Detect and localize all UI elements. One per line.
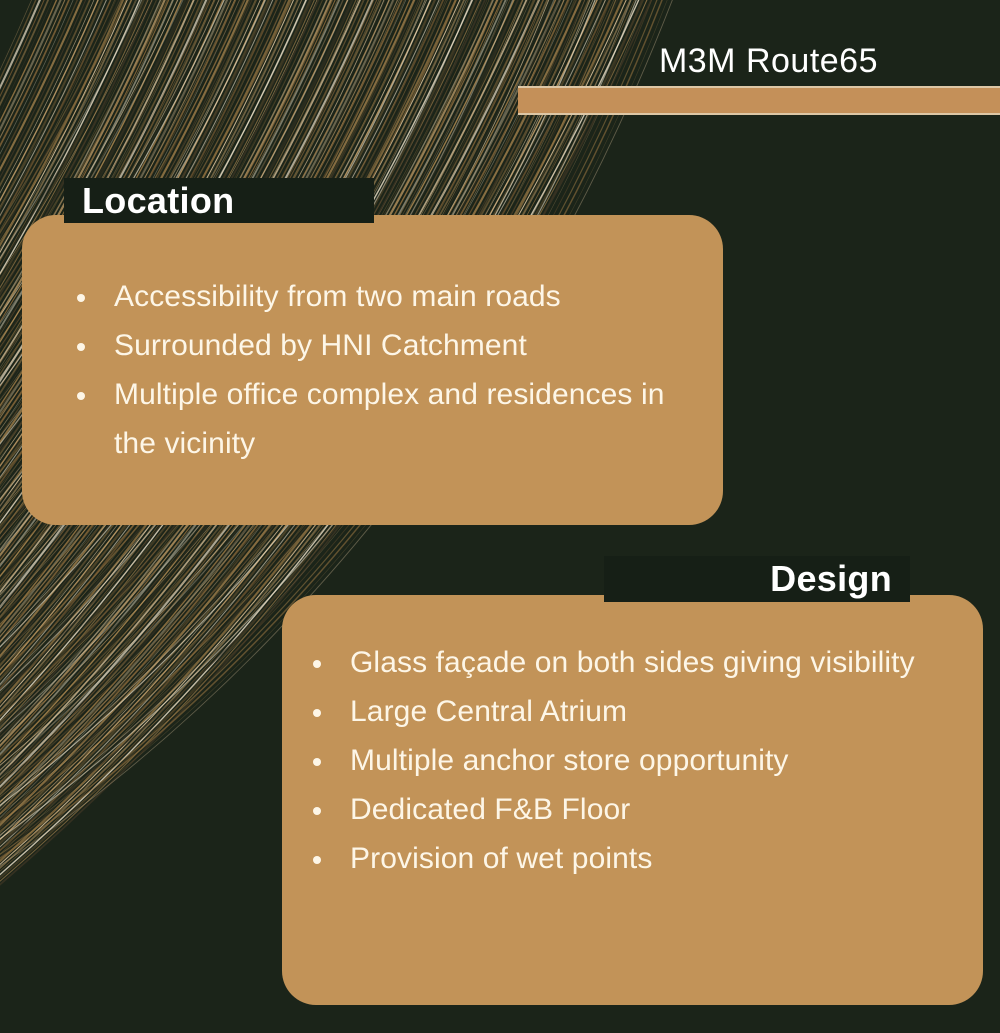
- list-item: Multiple anchor store opportunity: [310, 736, 950, 785]
- design-bullet-list: Glass façade on both sides giving visibi…: [310, 638, 950, 883]
- slide-canvas: M3M Route65 Location Accessibility from …: [0, 0, 1000, 1033]
- design-card-header: Design: [604, 556, 910, 602]
- title-accent-bar: [518, 86, 1000, 115]
- list-item: Accessibility from two main roads: [74, 272, 674, 321]
- title-block: M3M Route65: [0, 0, 1000, 120]
- location-header-label: Location: [82, 180, 234, 222]
- design-header-label: Design: [770, 558, 892, 600]
- list-item: Provision of wet points: [310, 834, 950, 883]
- list-item: Glass façade on both sides giving visibi…: [310, 638, 950, 687]
- list-item: Large Central Atrium: [310, 687, 950, 736]
- list-item: Surrounded by HNI Catchment: [74, 321, 674, 370]
- location-card-header: Location: [64, 178, 374, 223]
- page-title: M3M Route65: [659, 42, 878, 81]
- list-item: Dedicated F&B Floor: [310, 785, 950, 834]
- list-item: Multiple office complex and residences i…: [74, 370, 674, 468]
- location-bullet-list: Accessibility from two main roads Surrou…: [74, 272, 674, 468]
